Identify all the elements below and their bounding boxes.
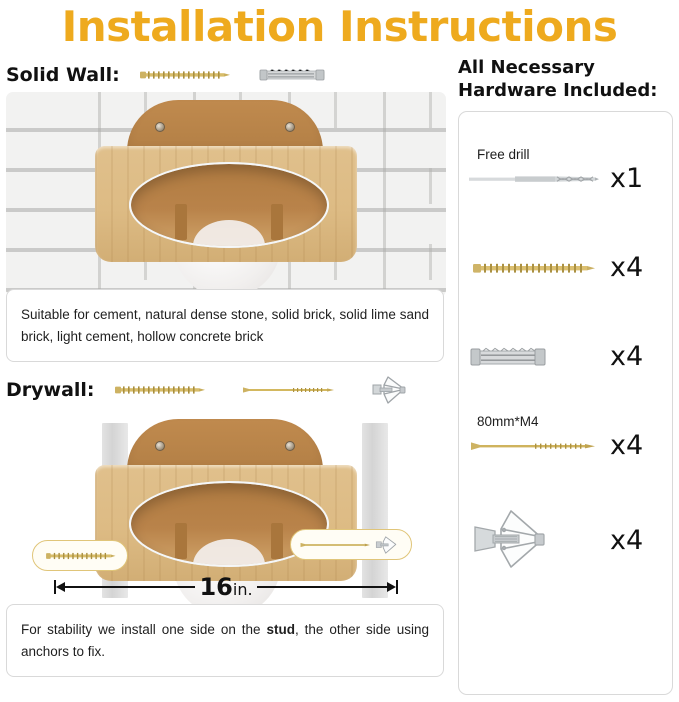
drywall-label: Drywall: [6,379,95,401]
toggle-anchor-quantity: x4 [610,525,643,556]
long-screw-quantity: x4 [610,430,643,461]
instructions-column: Solid Wall: [6,58,446,677]
screw-head-left-icon [155,122,165,132]
long-screw-label: 80mm*M4 [477,414,539,429]
hardware-item-drill: Free drill x1 [469,134,662,223]
hardware-title: All Necessary Hardware Included: [458,56,673,102]
wall-plug-quantity: x4 [610,341,643,372]
inner-post-right [271,204,283,240]
wall-stud-right [362,423,388,598]
long-gold-screw-icon [469,439,599,453]
long-gold-screw-icon [299,540,372,550]
dimension-label: 16in. [195,573,256,601]
drill-quantity: x1 [610,163,643,194]
toggle-anchor-visual [469,510,604,570]
grey-wall-plug-icon [258,67,328,83]
page-title: Installation Instructions [0,2,679,52]
gold-screw-icon [43,550,117,562]
inner-post-right [271,523,283,559]
solid-wall-photo [6,92,446,297]
long-gold-screw-icon [241,384,337,396]
hardware-title-line1: All Necessary [458,56,673,79]
screw-head-right-icon [285,441,295,451]
solid-wall-caption-text: Suitable for cement, natural dense stone… [21,307,429,344]
drywall-caption-prefix: For stability we install one side on the [21,622,266,637]
drywall-hardware-icons [111,374,415,406]
screw-visual [469,238,604,298]
hardware-list-box: Free drill x1 [458,111,673,695]
drill-visual: Free drill [469,149,604,209]
solid-wall-heading-row: Solid Wall: [6,58,446,92]
right-anchor-callout [290,529,412,560]
dimension-bar-right [257,586,387,588]
screw-head-left-icon [155,441,165,451]
butterfly-toggle-anchor-icon [469,505,565,575]
solid-wall-label: Solid Wall: [6,64,120,86]
cat-perch-product [95,100,357,297]
hardware-column: All Necessary Hardware Included: Free dr… [458,56,673,695]
solid-wall-caption: Suitable for cement, natural dense stone… [6,289,444,362]
gold-screw-icon [136,68,232,82]
inner-post-left [175,523,187,559]
hardware-title-line2: Hardware Included: [458,79,673,102]
solid-wall-hardware-icons [136,67,328,83]
butterfly-toggle-anchor-icon [371,374,415,406]
drill-label: Free drill [477,147,530,162]
hardware-item-wall-plug: x4 [469,312,662,401]
left-screw-callout [32,540,128,571]
dome-inner-surface [193,220,265,248]
grey-wall-plug-icon [469,345,549,369]
drywall-photo: 16in. [6,407,446,612]
gold-screw-icon [111,383,207,397]
gold-screw-icon [469,260,599,276]
hardware-item-long-screw: 80mm*M4 x4 [469,401,662,490]
screw-head-right-icon [285,122,295,132]
wall-plug-visual [469,327,604,387]
dimension-arrow-left-icon [56,582,65,592]
butterfly-toggle-anchor-icon [375,534,403,556]
perch-oval-opening [129,162,329,248]
drill-bit-icon [469,172,599,186]
drywall-caption: For stability we install one side on the… [6,604,444,677]
hardware-item-screw: x4 [469,223,662,312]
dimension-value: 16 [199,573,232,601]
screw-quantity: x4 [610,252,643,283]
dimension-cap-right [396,580,398,594]
inner-post-left [175,204,187,240]
dimension-unit: in. [233,580,253,599]
dome-inner-surface [193,539,265,567]
width-dimension-line: 16in. [54,576,398,598]
hardware-item-toggle-anchor: x4 [469,490,662,590]
dimension-arrow-right-icon [387,582,396,592]
long-screw-visual: 80mm*M4 [469,416,604,476]
drywall-heading-row: Drywall: [6,373,446,407]
dimension-bar-left [65,586,195,588]
drywall-caption-bold: stud [266,622,295,637]
